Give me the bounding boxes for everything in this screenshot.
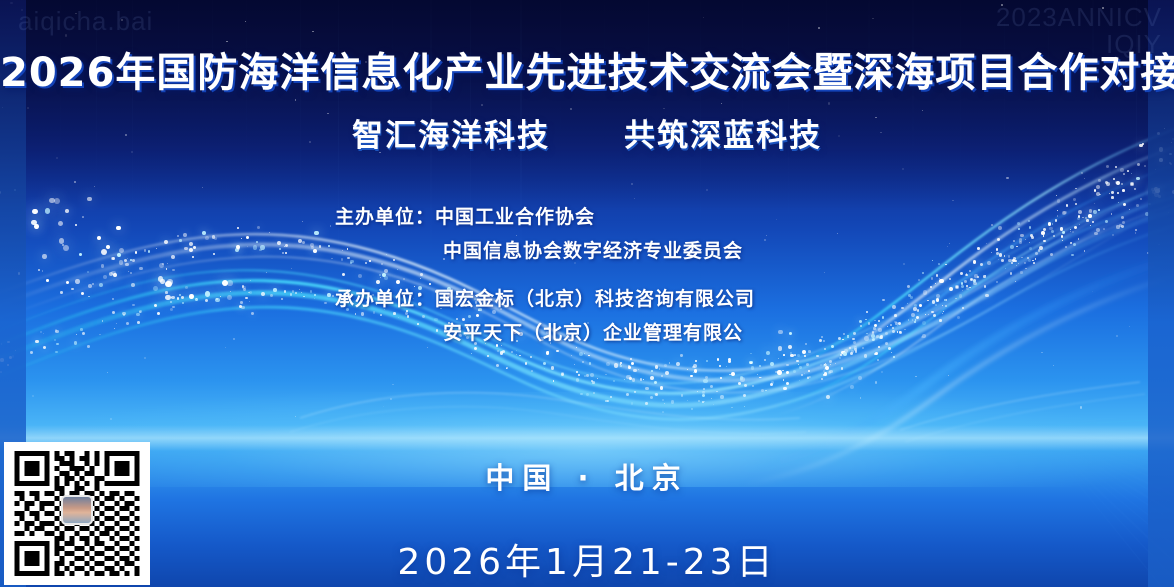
poster-subtitle: 智汇海洋科技共筑深蓝科技 <box>0 110 1174 155</box>
organizer-block: 主办单位：中国工业合作协会 中国信息协会数字经济专业委员会 承办单位：国宏金标（… <box>335 200 755 350</box>
poster-content: 2026年国防海洋信息化产业先进技术交流会暨深海项目合作对接会 智汇海洋科技共筑… <box>0 0 1174 587</box>
organizer-spacer <box>335 268 755 282</box>
poster-location: 中国 · 北京 <box>0 455 1174 497</box>
poster-date: 2026年1月21-23日 <box>0 533 1174 585</box>
host-label: 主办单位： <box>335 206 435 228</box>
cohost-line1: 国宏金标（北京）科技咨询有限公司 <box>435 288 755 310</box>
cohost-row-2: 安平天下（北京）企业管理有限公 <box>335 316 755 350</box>
host-row-2: 中国信息协会数字经济专业委员会 <box>335 234 755 268</box>
host-row-1: 主办单位：中国工业合作协会 <box>335 200 755 234</box>
conference-poster: aiqicha.bai 2023ANNICV IQIY 2026年国防海洋信息化… <box>0 0 1174 587</box>
host-line1: 中国工业合作协会 <box>435 206 595 228</box>
cohost-row-1: 承办单位：国宏金标（北京）科技咨询有限公司 <box>335 282 755 316</box>
subtitle-left: 智汇海洋科技 <box>352 118 550 154</box>
qr-code[interactable] <box>4 442 150 585</box>
subtitle-right: 共筑深蓝科技 <box>624 118 822 154</box>
poster-title: 2026年国防海洋信息化产业先进技术交流会暨深海项目合作对接会 <box>0 40 1174 98</box>
cohost-label: 承办单位： <box>335 288 435 310</box>
qr-center-logo <box>61 495 93 525</box>
